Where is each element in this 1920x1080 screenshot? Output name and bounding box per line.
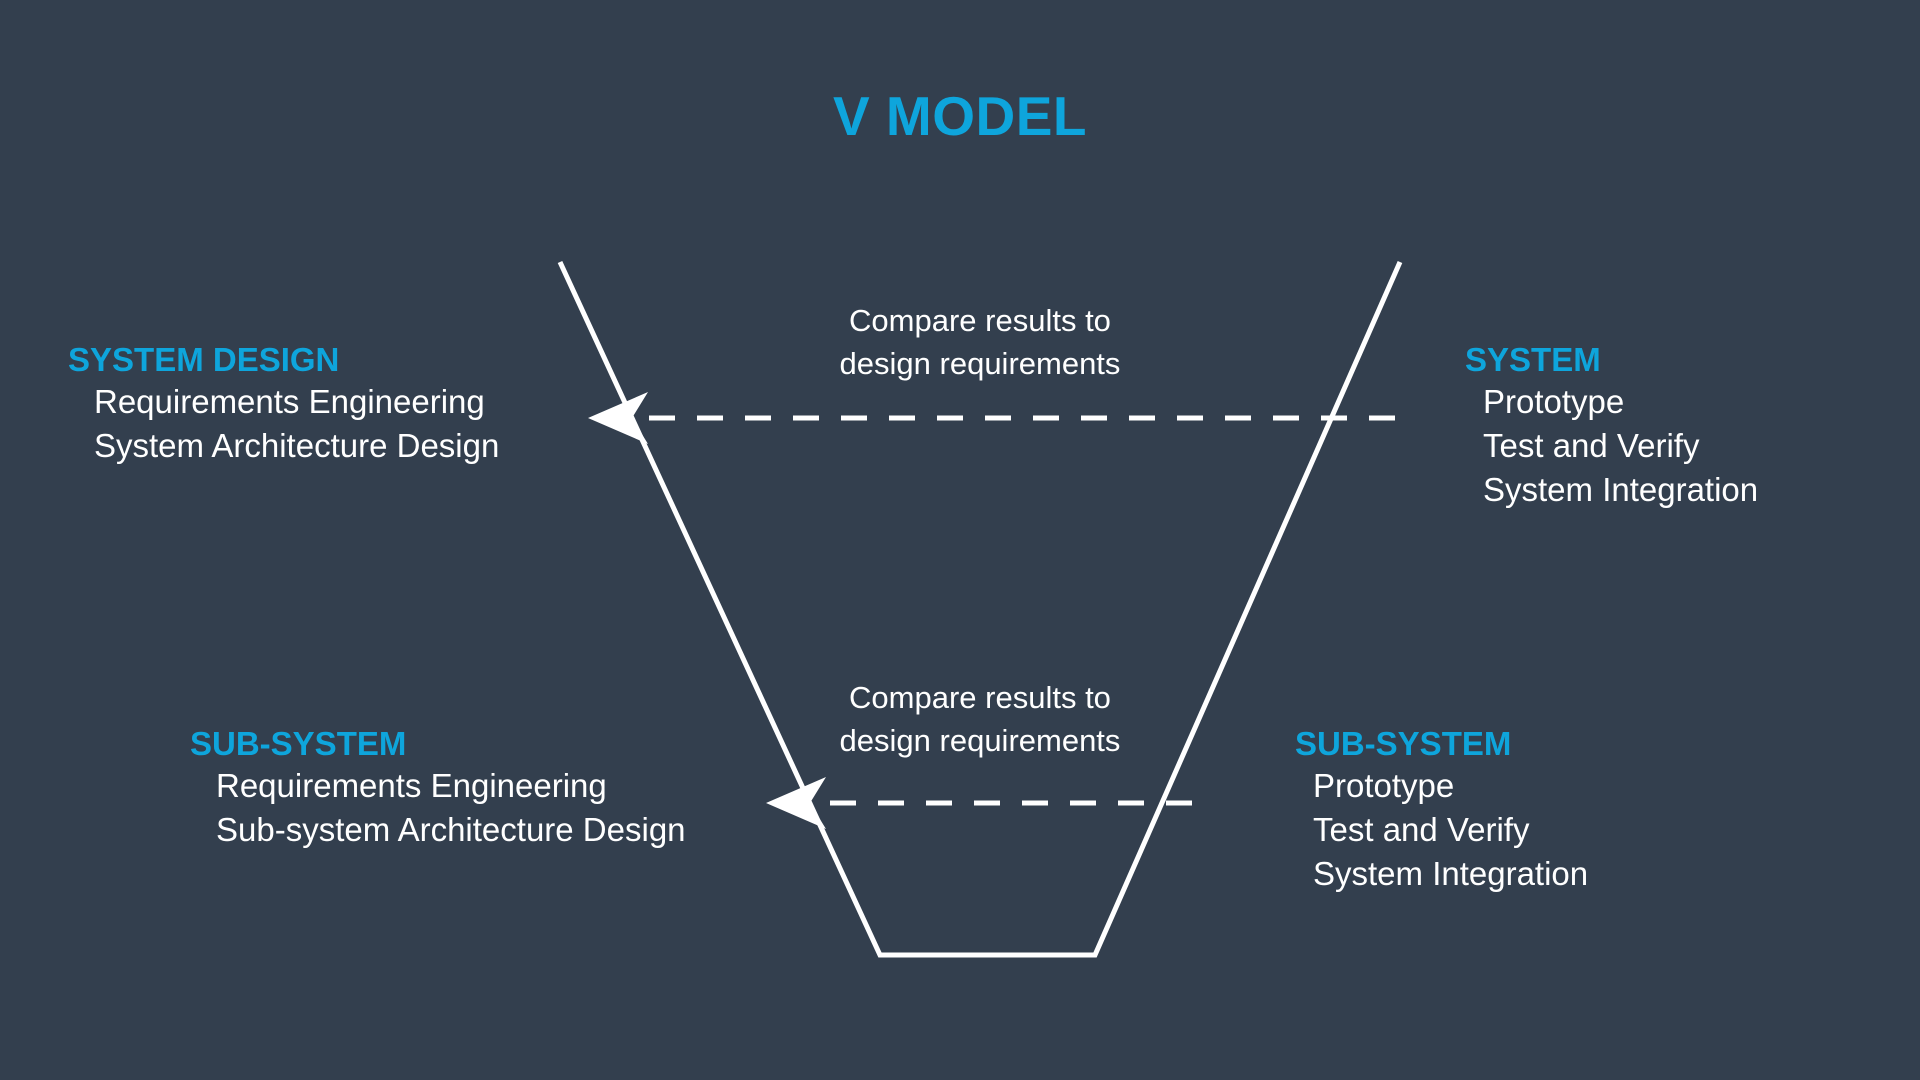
block-system: SYSTEM Prototype Test and Verify System … [1465, 340, 1758, 512]
block-sub-system-design-heading: SUB-SYSTEM [190, 724, 686, 764]
block-sub-system-design-items: Requirements Engineering Sub-system Arch… [190, 764, 686, 852]
list-item: System Architecture Design [94, 424, 499, 468]
block-sub-system-test: SUB-SYSTEM Prototype Test and Verify Sys… [1295, 724, 1588, 896]
block-sub-system-design: SUB-SYSTEM Requirements Engineering Sub-… [190, 724, 686, 852]
list-item: System Integration [1313, 852, 1588, 896]
list-item: Test and Verify [1313, 808, 1588, 852]
sub-system-verification-arrowhead [766, 777, 826, 829]
block-system-design-items: Requirements Engineering System Architec… [68, 380, 499, 468]
compare-note-bottom: Compare results to design requirements [800, 677, 1160, 763]
list-item: System Integration [1483, 468, 1758, 512]
block-system-design-heading: SYSTEM DESIGN [68, 340, 499, 380]
v-model-shape [0, 0, 1920, 1080]
list-item: Test and Verify [1483, 424, 1758, 468]
page-title: V MODEL [0, 86, 1920, 147]
diagram-canvas: V MODEL SYSTEM DESIGN Requirements Engin… [0, 0, 1920, 1080]
block-sub-system-test-heading: SUB-SYSTEM [1295, 724, 1588, 764]
compare-note-top-line1: Compare results to [800, 300, 1160, 343]
block-system-items: Prototype Test and Verify System Integra… [1465, 380, 1758, 512]
block-system-design: SYSTEM DESIGN Requirements Engineering S… [68, 340, 499, 468]
system-verification-arrowhead [588, 392, 648, 444]
list-item: Requirements Engineering [216, 764, 686, 808]
block-system-heading: SYSTEM [1465, 340, 1758, 380]
block-sub-system-test-items: Prototype Test and Verify System Integra… [1295, 764, 1588, 896]
list-item: Prototype [1483, 380, 1758, 424]
compare-note-bottom-line2: design requirements [800, 720, 1160, 763]
list-item: Sub-system Architecture Design [216, 808, 686, 852]
compare-note-top: Compare results to design requirements [800, 300, 1160, 386]
list-item: Prototype [1313, 764, 1588, 808]
compare-note-bottom-line1: Compare results to [800, 677, 1160, 720]
compare-note-top-line2: design requirements [800, 343, 1160, 386]
list-item: Requirements Engineering [94, 380, 499, 424]
